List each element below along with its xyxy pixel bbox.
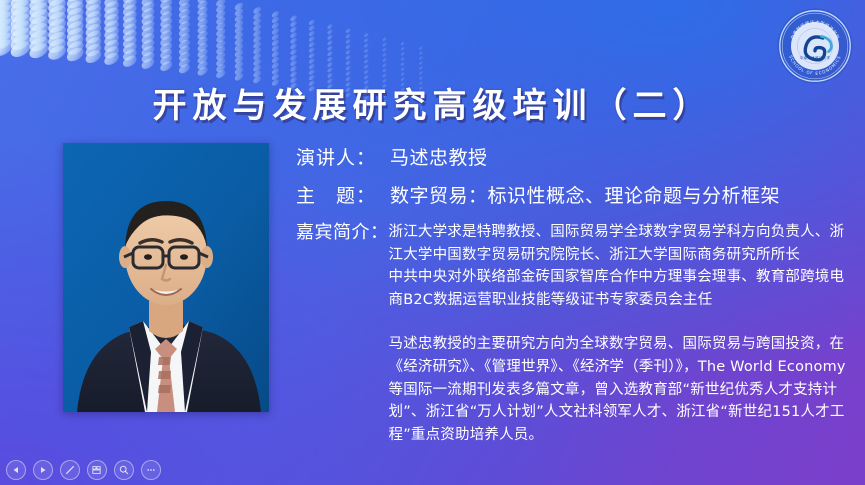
presentation-slide: 中南财经政法大学经济学院 SCHOOL OF ECONOMICS 中南财经政法大…: [0, 0, 865, 485]
speaker-value: 马述忠教授: [376, 143, 488, 173]
slide-grid-button[interactable]: [87, 460, 107, 480]
bio-row: 嘉宾简介： 浙江大学求是特聘教授、国际贸易学全球数字贸易学科方向负责人、浙江大学…: [296, 221, 852, 446]
more-options-button[interactable]: [141, 460, 161, 480]
bio-paragraph-1: 浙江大学求是特聘教授、国际贸易学全球数字贸易学科方向负责人、浙江大学中国数字贸易…: [389, 221, 853, 266]
topic-value: 数字贸易：标识性概念、理论命题与分析框架: [376, 181, 780, 211]
next-slide-button[interactable]: [33, 460, 53, 480]
zoom-button[interactable]: [114, 460, 134, 480]
bio-text: 浙江大学求是特聘教授、国际贸易学全球数字贸易学科方向负责人、浙江大学中国数字贸易…: [389, 221, 853, 446]
school-logo: 中南财经政法大学经济学院 SCHOOL OF ECONOMICS 中南财经政法大…: [775, 6, 855, 86]
slideshow-toolbar[interactable]: [6, 460, 161, 480]
bio-label: 嘉宾简介：: [296, 221, 389, 244]
speaker-row: 演讲人： 马述忠教授: [296, 143, 852, 173]
topic-label: 主 题：: [296, 181, 376, 211]
bio-paragraph-3: 马述忠教授的主要研究方向为全球数字贸易、国际贸易与跨国投资，在《经济研究》、《管…: [389, 333, 853, 446]
halftone-dot-decoration: [0, 0, 430, 154]
pen-button[interactable]: [60, 460, 80, 480]
bio-paragraph-2: 中共中央对外联络部金砖国家智库合作中方理事会理事、教育部跨境电商B2C数据运营职…: [389, 266, 853, 311]
topic-row: 主 题： 数字贸易：标识性概念、理论命题与分析框架: [296, 181, 852, 211]
speaker-portrait: [63, 143, 269, 412]
previous-slide-button[interactable]: [6, 460, 26, 480]
speaker-label: 演讲人：: [296, 143, 376, 173]
speaker-info-panel: 演讲人： 马述忠教授 主 题： 数字贸易：标识性概念、理论命题与分析框架 嘉宾简…: [296, 143, 852, 446]
page-title: 开放与发展研究高级培训（二）: [0, 78, 865, 127]
svg-text:中南财经政法大学: 中南财经政法大学: [800, 55, 831, 60]
